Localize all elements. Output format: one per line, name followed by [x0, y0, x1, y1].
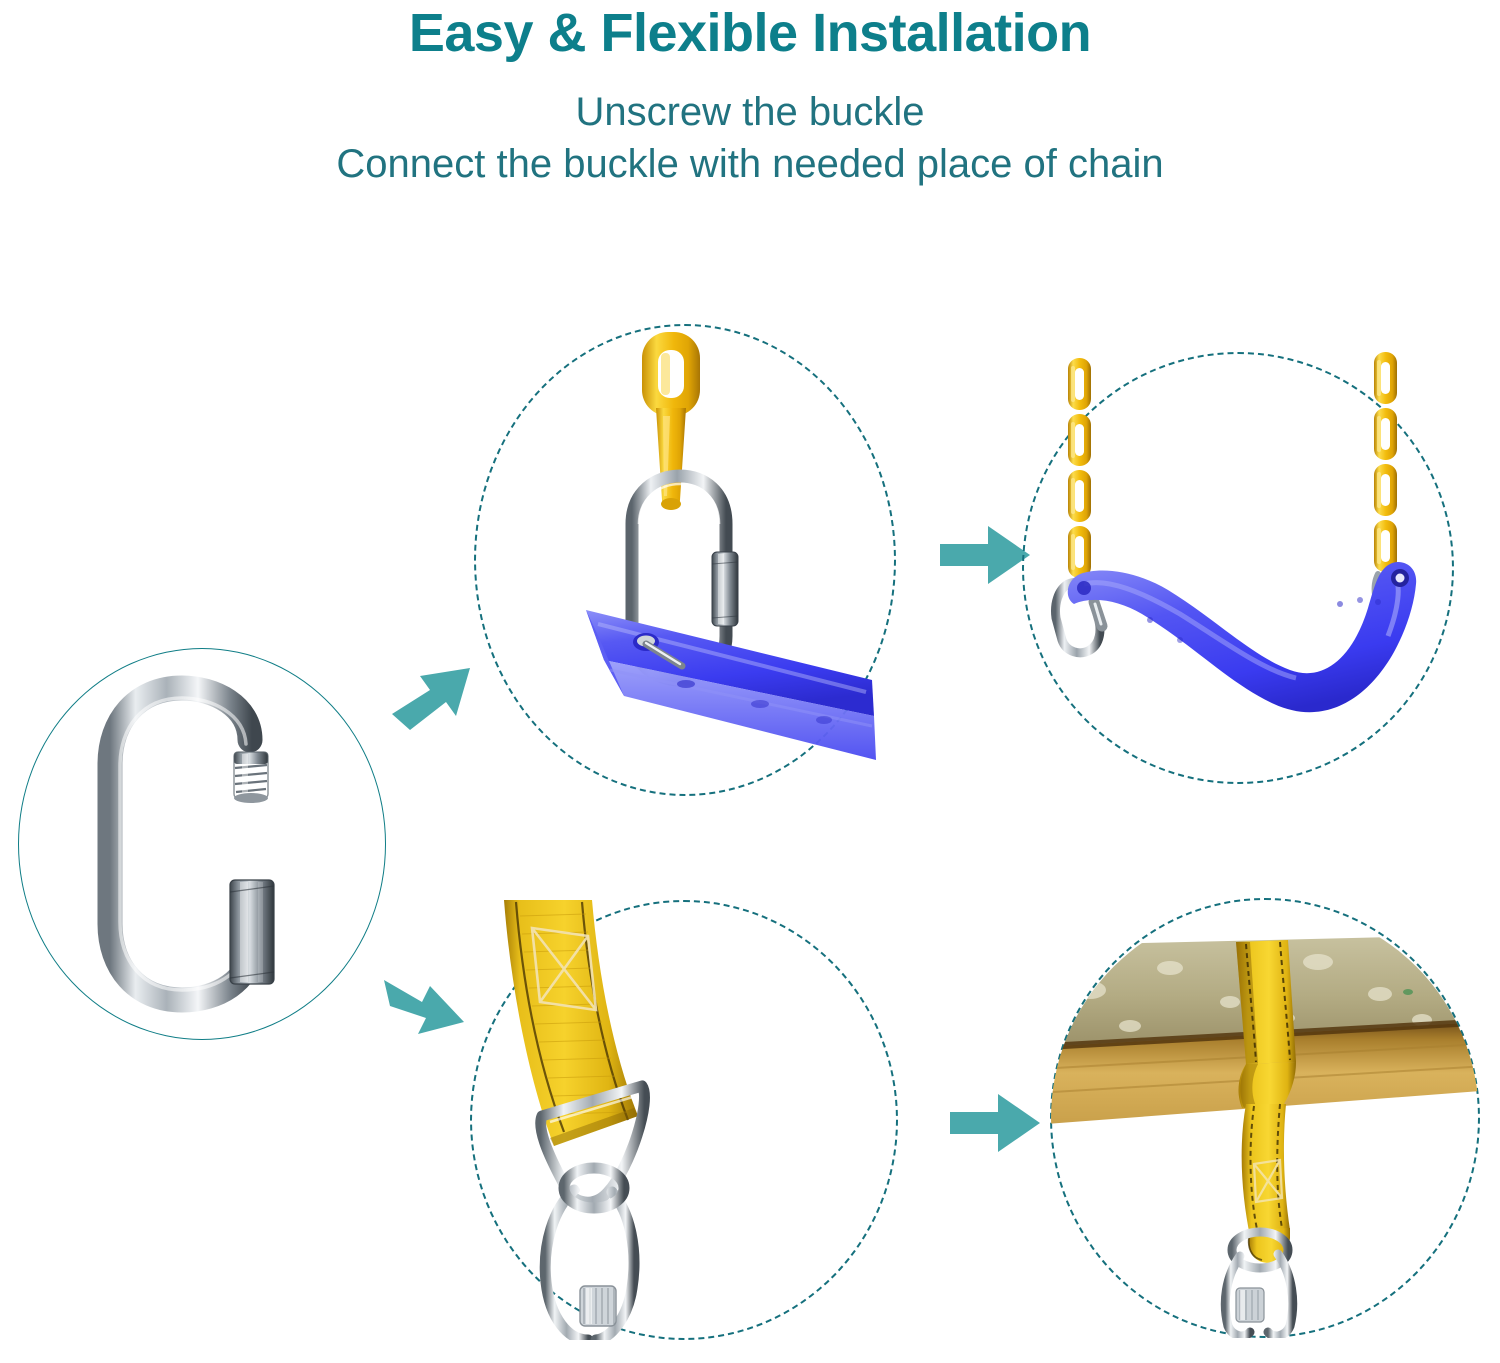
- carabiner-screw-gate: [545, 1168, 634, 1340]
- panel-assembled-swing-seat: [1022, 352, 1454, 784]
- strap-buckle-icon: [470, 900, 898, 1340]
- arrow-right-icon: [948, 1086, 1042, 1160]
- sleeve-nut: [230, 880, 274, 984]
- installation-diagram: [0, 0, 1500, 1363]
- strap-on-beam-icon: [1050, 898, 1480, 1338]
- quick-link-buckle-icon: [18, 648, 386, 1040]
- buckle-seat-attachment-icon: [474, 324, 896, 796]
- panel-buckle-attached-to-seat: [474, 324, 896, 796]
- arrow-up-right-icon: [386, 652, 478, 738]
- assembled-swing-icon: [1022, 352, 1454, 784]
- right-chain: [1374, 352, 1397, 572]
- left-chain: [1068, 358, 1091, 578]
- panel-strap-with-buckle: [470, 900, 898, 1340]
- threaded-stud: [234, 752, 268, 803]
- panel-quick-link-buckle: [18, 648, 386, 1040]
- arrow-down-right-icon: [378, 958, 478, 1052]
- blue-swing-seat: [1068, 562, 1416, 712]
- arrow-right-icon: [938, 518, 1032, 592]
- panel-strap-wrapped-on-beam: [1050, 898, 1480, 1338]
